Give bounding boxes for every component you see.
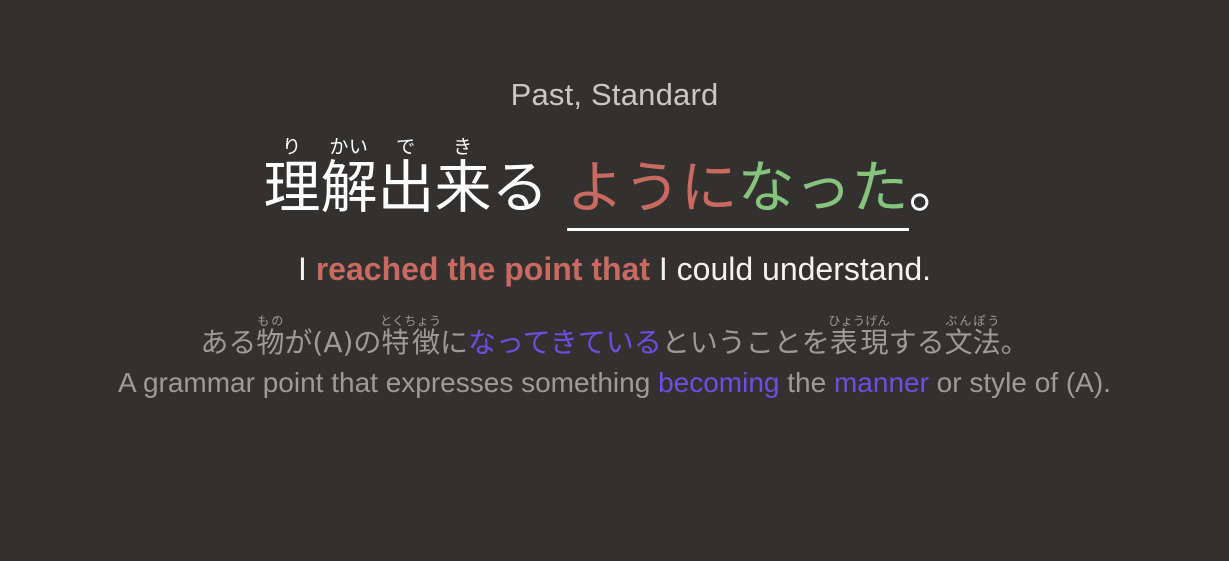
explain-jp-part-9: する [889, 326, 945, 359]
explain-kanji-mono: 物 [256, 326, 284, 359]
grammar-target-part-1: ように [567, 155, 738, 231]
explain-kanji-tokuchou: 特徴 [380, 326, 441, 359]
furigana-hyougen: ひょうげん [828, 314, 890, 328]
explain-jp-part-3: が(A)の [284, 326, 381, 359]
explanation-japanese: ある物ものが(A)の特徴とくちょうになってきているということを表現ひょうげんする… [118, 314, 1111, 357]
explain-en-part-5: or style of (A). [929, 367, 1111, 398]
example-sentence-translation: I reached the point that I could underst… [298, 251, 931, 288]
kanji-de: 出 [377, 155, 434, 221]
explain-kanji-bunpou: 文法 [945, 326, 1001, 359]
grammar-flashcard: Past, Standard 理り解かい出で来きる ようになった。 I reac… [0, 0, 1229, 561]
lesson-title: Past, Standard [511, 78, 719, 112]
ruby-bunpou: 文法ぶんぽう [945, 326, 1001, 359]
explain-jp-part-1: ある [200, 326, 256, 359]
ruby-rikai-kai: 解かい [320, 155, 377, 221]
translation-tail: I could understand. [659, 251, 931, 287]
grammar-target-part-2: なった [738, 155, 909, 231]
explain-jp-part-7: ということを [662, 326, 830, 359]
ruby-mono: 物もの [256, 326, 284, 359]
furigana-kai: かい [320, 136, 377, 158]
explain-jp-period: 。 [1001, 326, 1029, 359]
kanji-ri: 理 [263, 155, 320, 221]
sentence-gap [548, 160, 566, 217]
explain-en-part-3: the [779, 367, 833, 398]
explain-kanji-hyougen: 表現 [828, 326, 890, 359]
furigana-mono: もの [256, 314, 284, 328]
kanji-ki: 来 [434, 155, 491, 221]
furigana-ri: り [263, 136, 320, 158]
furigana-de: で [377, 136, 434, 158]
furigana-tokuchou: とくちょう [380, 314, 441, 328]
translation-space-2 [650, 251, 659, 287]
explain-jp-part-5: に [440, 326, 468, 359]
explain-en-accent-2: manner [834, 367, 929, 398]
sentence-period: 。 [909, 155, 966, 221]
ruby-hyougen: 表現ひょうげん [830, 326, 889, 359]
ruby-rikai-ri: 理り [263, 155, 320, 221]
explain-en-accent-1: becoming [658, 367, 779, 398]
explain-jp-accent: なってきている [468, 326, 662, 359]
furigana-bunpou: ぶんぽう [945, 314, 1001, 328]
furigana-ki: き [434, 136, 491, 158]
grammar-explanation: ある物ものが(A)の特徴とくちょうになってきているということを表現ひょうげんする… [118, 314, 1111, 399]
explain-en-part-1: A grammar point that expresses something [118, 367, 658, 398]
kanji-kai: 解 [320, 155, 377, 221]
explanation-english: A grammar point that expresses something… [118, 368, 1111, 399]
translation-space-1 [307, 251, 316, 287]
translation-highlight: reached the point that [316, 251, 650, 287]
ruby-tokuchou: 特徴とくちょう [381, 326, 440, 359]
kana-ru: る [491, 155, 548, 221]
example-sentence-japanese: 理り解かい出で来きる ようになった。 [263, 136, 965, 217]
translation-lead: I [298, 251, 307, 287]
ruby-deki-ki: 来き [434, 155, 491, 221]
ruby-deki-de: 出で [377, 155, 434, 221]
